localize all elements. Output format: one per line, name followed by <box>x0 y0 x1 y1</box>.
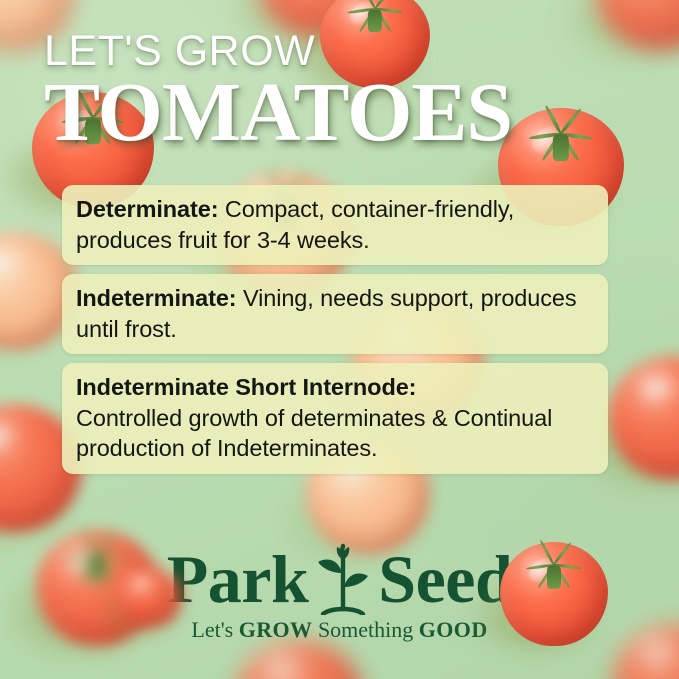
fact-term-indeterminate-short-internode: Indeterminate Short Internode: <box>76 374 416 400</box>
fact-card-determinate: Determinate: Compact, container-friendly… <box>62 185 608 265</box>
tomato-decor-top-right-corner <box>596 0 679 50</box>
fact-description-indeterminate-short-internode: Controlled growth of determinates & Cont… <box>76 405 552 462</box>
tomato-decor-bottom-center <box>236 640 362 679</box>
tomato-stem <box>553 135 569 161</box>
sprout-icon <box>314 543 372 615</box>
brand-word-park: Park <box>167 545 309 613</box>
tomato-hero-bottom-left-logo <box>118 568 182 628</box>
fact-term-indeterminate: Indeterminate: <box>76 285 237 311</box>
tomato-hero-bottom-center-right <box>500 542 608 646</box>
fact-term-determinate: Determinate: <box>76 196 218 222</box>
fact-card-indeterminate-short-internode: Indeterminate Short Internode: Controlle… <box>62 363 608 474</box>
poster-canvas: LET'S GROW TOMATOES Determinate: Compact… <box>0 0 679 679</box>
tagline-mid: Something <box>312 617 418 642</box>
headline-title: TOMATOES <box>44 72 512 154</box>
tagline-grow: GROW <box>239 617 313 642</box>
fact-card-indeterminate: Indeterminate: Vining, needs support, pr… <box>62 274 608 354</box>
tagline-start: Let's <box>191 617 238 642</box>
tomato-stem <box>547 566 561 589</box>
headline-block: LET'S GROW TOMATOES <box>44 28 512 154</box>
fact-card-list: Determinate: Compact, container-friendly… <box>62 185 608 474</box>
tomato-decor-right-card-edge <box>608 356 679 480</box>
